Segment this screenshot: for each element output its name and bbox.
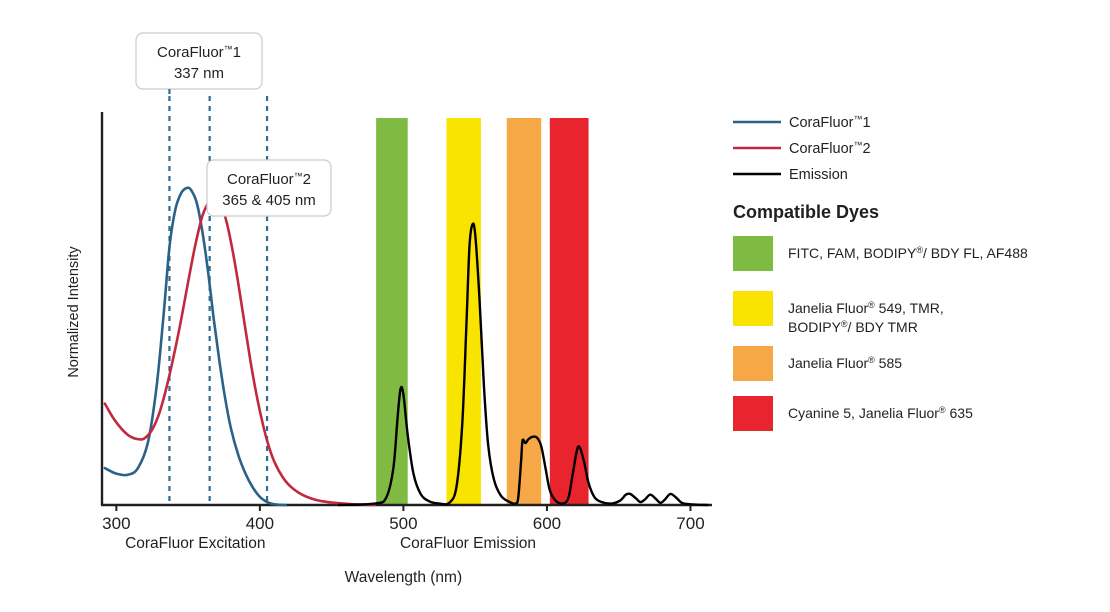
x-tick-label-600: 600 <box>533 514 561 533</box>
yellow-band <box>446 118 480 505</box>
orange-band <box>507 118 541 505</box>
annotation-layer: CoraFluor™1337 nmCoraFluor™2365 & 405 nm <box>136 33 331 228</box>
curve-corafluor1 <box>105 188 286 505</box>
green-band <box>376 118 408 505</box>
corafluor1-callout-line2: 337 nm <box>174 65 224 82</box>
axis-section-label-0: CoraFluor Excitation <box>125 535 265 552</box>
legend-label-1: CoraFluor™2 <box>789 140 871 157</box>
dye-label-3-line-0: Cyanine 5, Janelia Fluor® 635 <box>788 405 973 421</box>
x-tick-label-700: 700 <box>676 514 704 533</box>
fluorescence-spectra-figure: 300400500600700CoraFluor ExcitationCoraF… <box>0 0 1110 612</box>
corafluor2-callout-line2: 365 & 405 nm <box>222 192 315 209</box>
red-band <box>550 118 589 505</box>
x-axis-title: Wavelength (nm) <box>345 569 462 586</box>
legend-area: CoraFluor™1CoraFluor™2EmissionCompatible… <box>733 114 1028 431</box>
x-tick-label-400: 400 <box>246 514 274 533</box>
dye-label-2-line-0: Janelia Fluor® 585 <box>788 355 902 371</box>
axis-section-label-1: CoraFluor Emission <box>400 535 536 552</box>
dye-swatch-2 <box>733 346 773 381</box>
legend-label-2: Emission <box>789 167 848 183</box>
x-tick-label-500: 500 <box>389 514 417 533</box>
dye-swatch-1 <box>733 291 773 326</box>
compatible-dyes-heading: Compatible Dyes <box>733 202 879 222</box>
x-tick-label-300: 300 <box>102 514 130 533</box>
plot-area: 300400500600700CoraFluor ExcitationCoraF… <box>66 96 712 586</box>
dye-label-0-line-0: FITC, FAM, BODIPY®/ BDY FL, AF488 <box>788 245 1028 261</box>
dye-swatch-3 <box>733 396 773 431</box>
dye-label-1-line-1: BODIPY®/ BDY TMR <box>788 319 918 335</box>
legend-label-0: CoraFluor™1 <box>789 114 871 131</box>
y-axis-title: Normalized Intensity <box>66 246 82 378</box>
dye-label-1-line-0: Janelia Fluor® 549, TMR, <box>788 300 944 316</box>
dye-swatch-0 <box>733 236 773 271</box>
